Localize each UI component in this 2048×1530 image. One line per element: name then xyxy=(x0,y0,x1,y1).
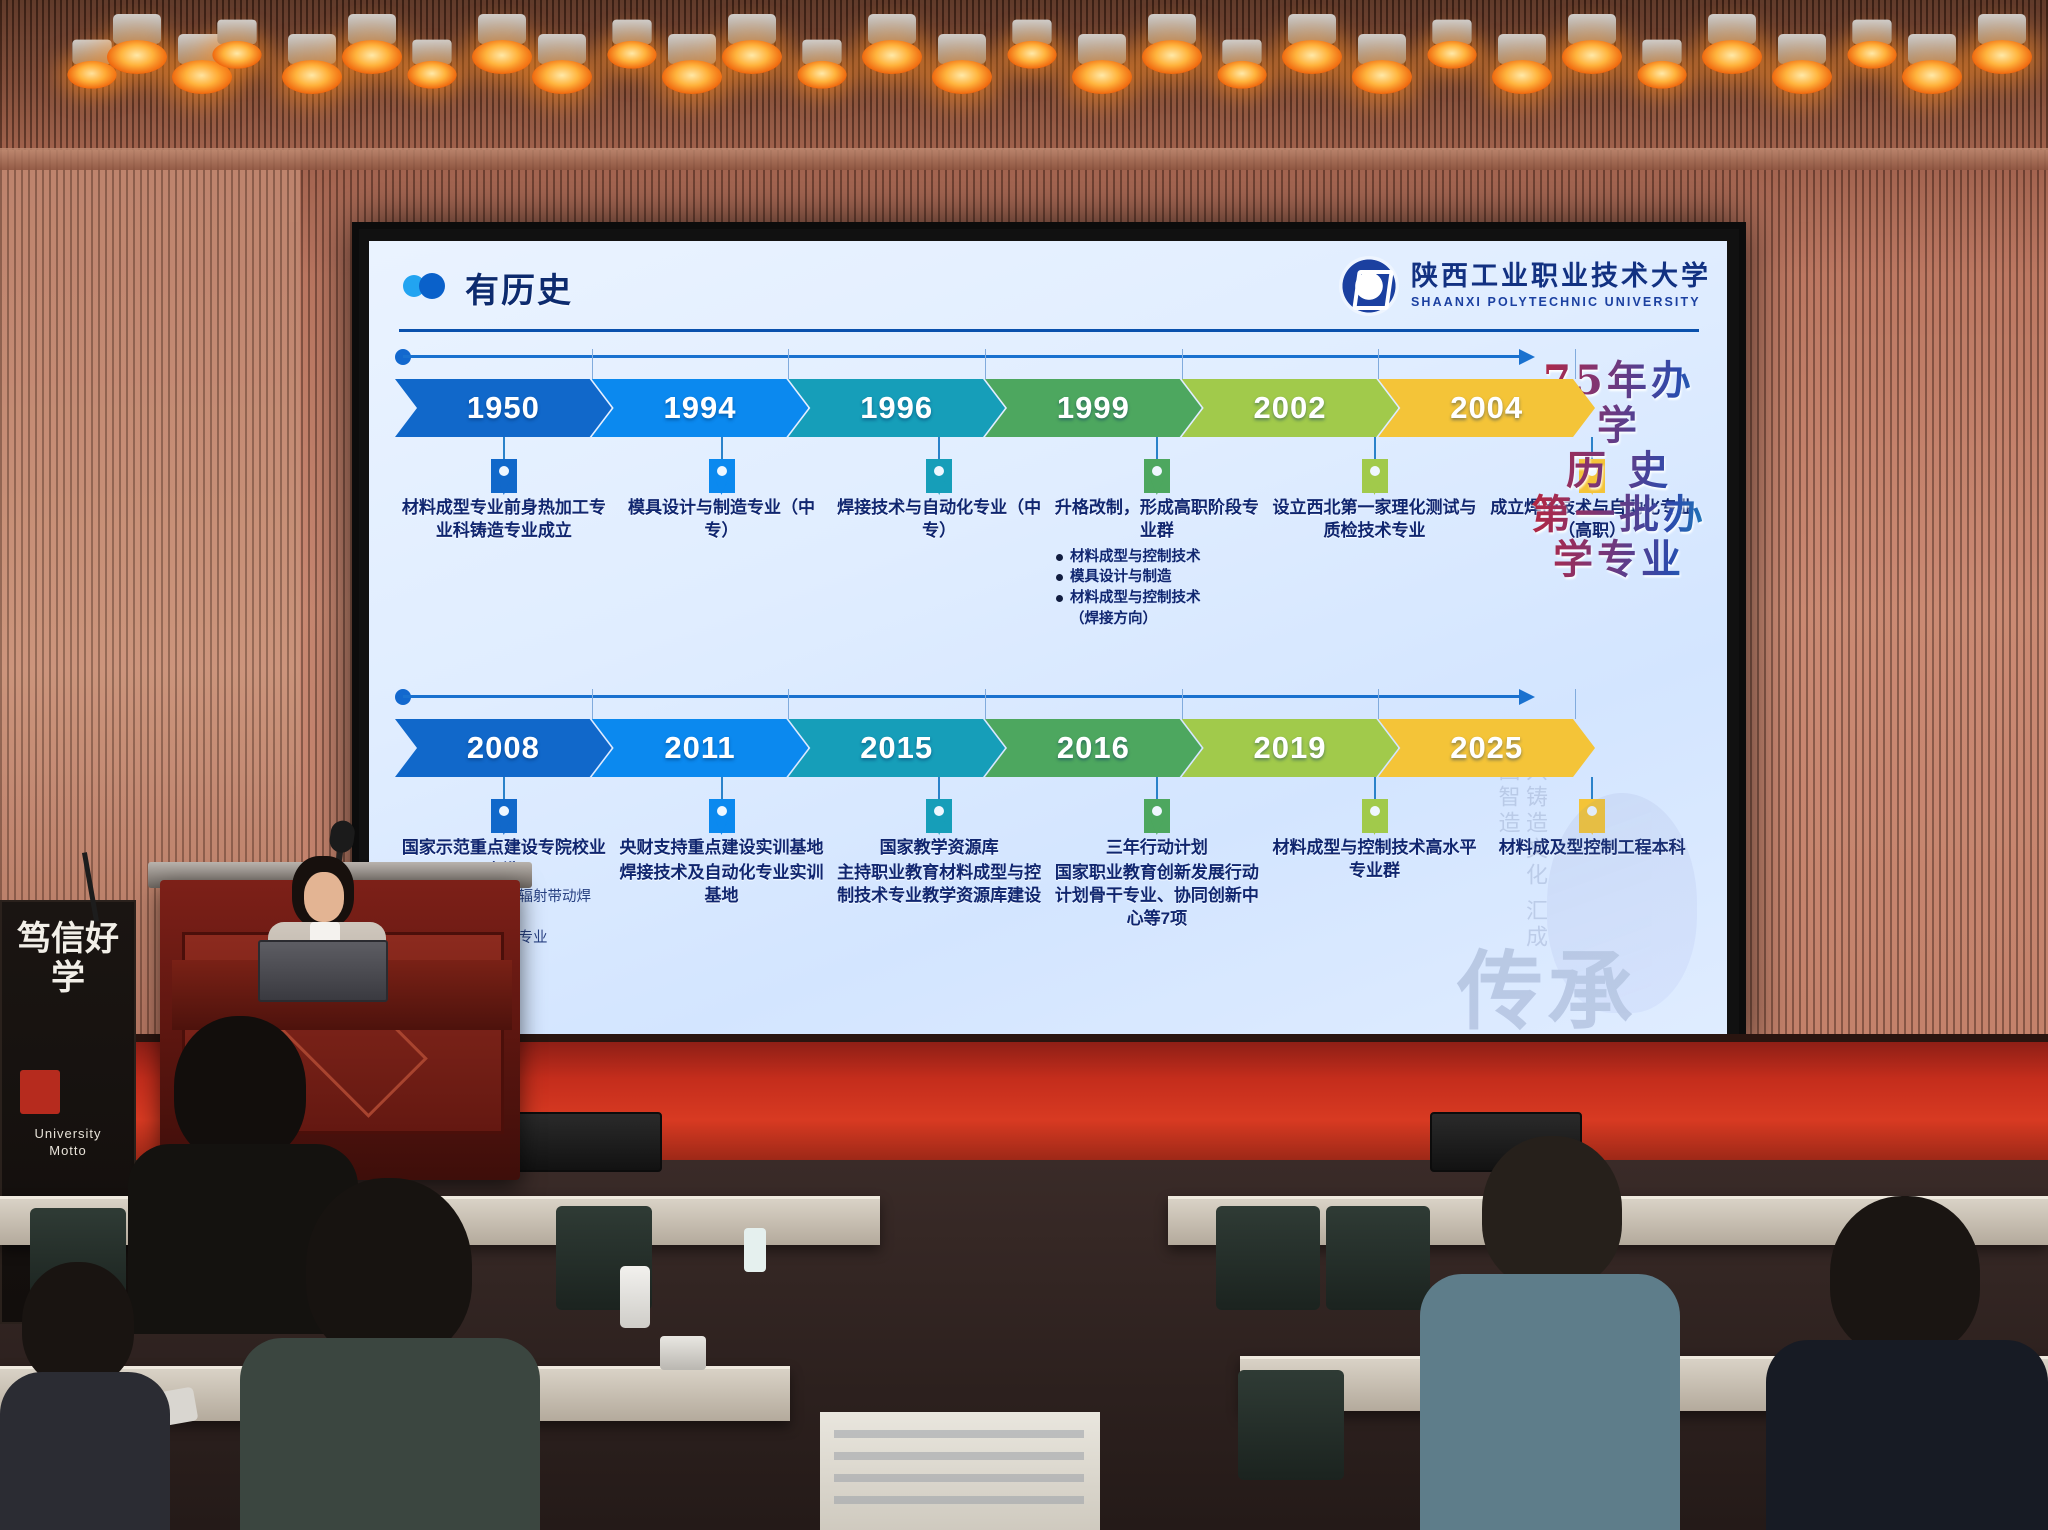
bullet-item: 模具设计与制造 xyxy=(1054,567,1260,588)
bullet-item: （焊接方向） xyxy=(1054,609,1260,630)
timeline-year-chevron[interactable]: 2019 xyxy=(1182,719,1399,777)
timeline-year-label: 1994 xyxy=(664,390,737,426)
stage-light xyxy=(930,34,994,96)
stage-light xyxy=(1350,34,1414,96)
audience-seat xyxy=(1326,1206,1430,1310)
timeline-year-chevrons-1: 195019941996199920022004 xyxy=(395,379,1575,437)
timeline-year-label: 2011 xyxy=(664,730,735,766)
university-emblem-icon xyxy=(1339,256,1399,316)
map-pin-icon xyxy=(1579,799,1605,833)
timeline-entry[interactable]: 央财支持重点建设实训基地焊接技术及自动化专业实训基地 xyxy=(613,777,831,949)
logo-chinese-name: 陕西工业职业技术大学 xyxy=(1411,263,1711,290)
timeline-year-label: 2015 xyxy=(860,730,933,766)
stage-light xyxy=(1006,20,1058,71)
audience-member xyxy=(1420,1136,1680,1530)
timeline-year-chevron[interactable]: 2025 xyxy=(1378,719,1595,777)
timeline-entry-bullets: 材料成型与控制技术模具设计与制造材料成型与控制技术（焊接方向） xyxy=(1054,547,1260,629)
map-pin-icon xyxy=(1362,459,1388,493)
timeline-year-chevrons-2: 200820112015201620192025 xyxy=(395,719,1575,777)
timeline-year-chevron[interactable]: 1950 xyxy=(395,379,612,437)
stage-light xyxy=(340,14,404,76)
timeline-entry-title: 设立西北第一家理化测试与质检技术专业 xyxy=(1272,497,1478,543)
thermos-cup xyxy=(620,1266,650,1328)
stage-light xyxy=(1900,34,1964,96)
map-pin-icon xyxy=(1144,459,1170,493)
timeline-year-label: 2004 xyxy=(1450,390,1523,426)
timeline-ticks-1 xyxy=(395,349,1575,379)
motto-banner-english: University Motto xyxy=(14,1126,122,1160)
stage-light xyxy=(720,14,784,76)
map-pin-icon xyxy=(491,799,517,833)
timeline-entry-title: 材料成及型控制工程本科 xyxy=(1489,837,1695,860)
timeline-entry-title: 三年行动计划 xyxy=(1054,837,1260,860)
stage-light xyxy=(470,14,534,76)
map-pin-icon xyxy=(926,459,952,493)
timeline-year-chevron[interactable]: 1994 xyxy=(592,379,809,437)
timeline-entry[interactable]: 设立西北第一家理化测试与质检技术专业 xyxy=(1266,437,1484,629)
stage-light xyxy=(280,34,344,96)
timeline-year-label: 2008 xyxy=(467,730,540,766)
stage-light xyxy=(406,40,458,91)
bullet-item: 材料成型与控制技术 xyxy=(1054,588,1260,609)
timeline-year-chevron[interactable]: 1996 xyxy=(788,379,1005,437)
timeline-ticks-2 xyxy=(395,689,1575,719)
timeline-year-chevron[interactable]: 2011 xyxy=(592,719,809,777)
timeline-year-chevron[interactable]: 2015 xyxy=(788,719,1005,777)
audience-seat xyxy=(1216,1206,1320,1310)
cup-lid xyxy=(660,1336,706,1370)
slide-header: 有历史 陕西工业职业技术大学 SHAANXI POLYTECHNIC UNIVE… xyxy=(369,241,1727,333)
timeline-year-label: 1996 xyxy=(860,390,933,426)
timeline-entry[interactable]: 国家教学资源库主持职业教育材料成型与控制技术专业教学资源库建设 xyxy=(830,777,1048,949)
timeline-year-chevron[interactable]: 2016 xyxy=(985,719,1202,777)
red-seal-icon xyxy=(20,1070,60,1114)
university-logo: 陕西工业职业技术大学 SHAANXI POLYTECHNIC UNIVERSIT… xyxy=(1339,253,1711,319)
timeline-entry-title: 升格改制，形成高职阶段专业群 xyxy=(1054,497,1260,543)
timeline-year-chevron[interactable]: 2008 xyxy=(395,719,612,777)
timeline-entry-subtitle: 主持职业教育材料成型与控制技术专业教学资源库建设 xyxy=(836,862,1042,908)
map-pin-icon xyxy=(1144,799,1170,833)
stage-light xyxy=(660,34,724,96)
stage-light xyxy=(530,34,594,96)
handout-papers xyxy=(820,1412,1100,1530)
water-bottle xyxy=(744,1228,766,1272)
audience-member xyxy=(0,1262,170,1530)
ceiling-trim-band xyxy=(0,148,2048,170)
stage-light xyxy=(796,40,848,91)
stage-light xyxy=(606,20,658,71)
slide-canvas: 有历史 陕西工业职业技术大学 SHAANXI POLYTECHNIC UNIVE… xyxy=(369,241,1727,1037)
timeline-entry[interactable]: 材料成型专业前身热加工专业科铸造专业成立 xyxy=(395,437,613,629)
timeline-year-chevron[interactable]: 1999 xyxy=(985,379,1202,437)
timeline-entry-title: 国家教学资源库 xyxy=(836,837,1042,860)
motto-banner-text: 笃信好学 xyxy=(16,920,120,998)
timeline-entry-title: 焊接技术与自动化专业（中专） xyxy=(836,497,1042,543)
audience-member xyxy=(240,1178,540,1530)
two-circles-icon xyxy=(403,273,449,299)
stage-monitor-speaker-left xyxy=(510,1112,662,1172)
stage-light xyxy=(1426,20,1478,71)
timeline-entry[interactable]: 焊接技术与自动化专业（中专） xyxy=(830,437,1048,629)
stage-light xyxy=(1560,14,1624,76)
timeline-year-label: 2025 xyxy=(1450,730,1523,766)
stage-light xyxy=(211,20,263,71)
stage-light xyxy=(1970,14,2034,76)
bullet-item: 材料成型与控制技术 xyxy=(1054,547,1260,568)
map-pin-icon xyxy=(709,799,735,833)
timeline-entry[interactable]: 三年行动计划国家职业教育创新发展行动计划骨干专业、协同创新中心等7项 xyxy=(1048,777,1266,949)
timeline-year-chevron[interactable]: 2002 xyxy=(1182,379,1399,437)
audience-seat xyxy=(1238,1370,1344,1480)
timeline-entry-title: 模具设计与制造专业（中专） xyxy=(619,497,825,543)
timeline-year-label: 1999 xyxy=(1057,390,1130,426)
map-pin-icon xyxy=(1362,799,1388,833)
presenter-laptop xyxy=(258,940,388,1002)
map-pin-icon xyxy=(709,459,735,493)
stage-light xyxy=(1140,14,1204,76)
timeline-entry[interactable]: 材料成及型控制工程本科 xyxy=(1483,777,1701,949)
slide-title: 有历史 xyxy=(465,263,573,312)
stage-light xyxy=(1700,14,1764,76)
map-pin-icon xyxy=(491,459,517,493)
timeline-entry[interactable]: 模具设计与制造专业（中专） xyxy=(613,437,831,629)
logo-english-name: SHAANXI POLYTECHNIC UNIVERSITY xyxy=(1411,296,1711,309)
stage-light xyxy=(105,14,169,76)
screenshot-root: 有历史 陕西工业职业技术大学 SHAANXI POLYTECHNIC UNIVE… xyxy=(0,0,2048,1530)
timeline-year-label: 2019 xyxy=(1254,730,1327,766)
stage-light xyxy=(1636,40,1688,91)
timeline-entry-title: 材料成型与控制技术高水平专业群 xyxy=(1272,837,1478,883)
calligraphy-line: 第一批办 xyxy=(1529,493,1709,538)
watermark-big-text: 传承 xyxy=(1457,951,1637,1033)
timeline-entry[interactable]: 材料成型与控制技术高水平专业群 xyxy=(1266,777,1484,949)
stage-light xyxy=(1846,20,1898,71)
timeline-year-label: 1950 xyxy=(467,390,540,426)
stage-light xyxy=(860,14,924,76)
map-pin-icon xyxy=(926,799,952,833)
timeline-entry-title: 央财支持重点建设实训基地 xyxy=(619,837,825,860)
timeline-entry-subtitle: 国家职业教育创新发展行动计划骨干专业、协同创新中心等7项 xyxy=(1054,862,1260,931)
timeline-entries-2: 国家示范重点建设专院校业（群）材料成型专业，辐射带动焊接、模具、检测开设机电一体… xyxy=(395,777,1701,949)
timeline-year-label: 2016 xyxy=(1057,730,1130,766)
stage-light xyxy=(1280,14,1344,76)
presentation-screen: 有历史 陕西工业职业技术大学 SHAANXI POLYTECHNIC UNIVE… xyxy=(352,222,1746,1056)
stage-light xyxy=(1070,34,1134,96)
stage-light xyxy=(1770,34,1834,96)
timeline-entry-title: 材料成型专业前身热加工专业科铸造专业成立 xyxy=(401,497,607,543)
stage-light xyxy=(1216,40,1268,91)
timeline-entry[interactable]: 升格改制，形成高职阶段专业群材料成型与控制技术模具设计与制造材料成型与控制技术（… xyxy=(1048,437,1266,629)
header-divider xyxy=(399,329,1699,332)
timeline-year-label: 2002 xyxy=(1254,390,1327,426)
timeline-entries-1: 材料成型专业前身热加工专业科铸造专业成立模具设计与制造专业（中专）焊接技术与自动… xyxy=(395,437,1701,629)
calligraphy-line: 学专业 xyxy=(1529,538,1709,583)
stage-light xyxy=(1490,34,1554,96)
timeline-year-chevron[interactable]: 2004 xyxy=(1378,379,1595,437)
calligraphy-line: 历 史 xyxy=(1529,449,1709,494)
audience-member xyxy=(1766,1196,2048,1530)
timeline-entry-subtitle: 焊接技术及自动化专业实训基地 xyxy=(619,862,825,908)
